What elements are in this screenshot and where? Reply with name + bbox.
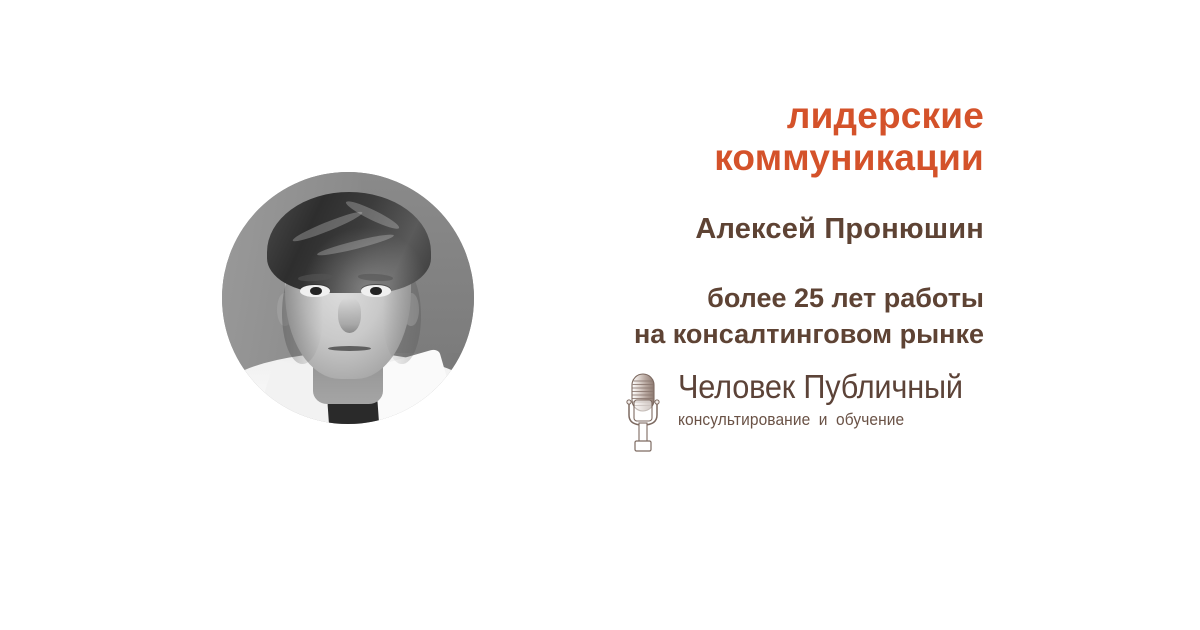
experience-line-1: более 25 лет работы [384,281,984,317]
portrait-eye-left [300,285,330,296]
experience-line-2: на консалтинговом рынке [384,317,984,353]
logo-text-block: Человек Публичный консультированиеиобуче… [678,368,984,430]
portrait-mouth [328,346,371,351]
logo-tagline: консультированиеиобучение [678,411,966,430]
slide-title-line-2: коммуникации [384,137,984,179]
experience-text: более 25 лет работы на консалтинговом ры… [384,281,984,353]
microphone-icon [621,371,665,453]
slide-title-line-1: лидерские [384,95,984,137]
portrait-pupil-right [370,287,382,296]
speaker-name: Алексей Пронюшин [384,213,984,246]
slide-title: лидерские коммуникации [384,95,984,179]
logo-tagline-part-1: консультирование [678,411,810,429]
logo-tagline-part-3: обучение [836,411,904,429]
brand-logo[interactable]: Человек Публичный консультированиеиобуче… [621,368,984,453]
content-column: лидерские коммуникации Алексей Пронюшин … [384,0,984,630]
logo-title: Человек Публичный [678,370,963,405]
portrait-hair-strand [291,209,364,246]
portrait-pupil-left [310,287,322,296]
portrait-nose [338,298,361,333]
slide-canvas: лидерские коммуникации Алексей Пронюшин … [0,0,1200,630]
logo-tagline-part-2: и [819,411,828,429]
